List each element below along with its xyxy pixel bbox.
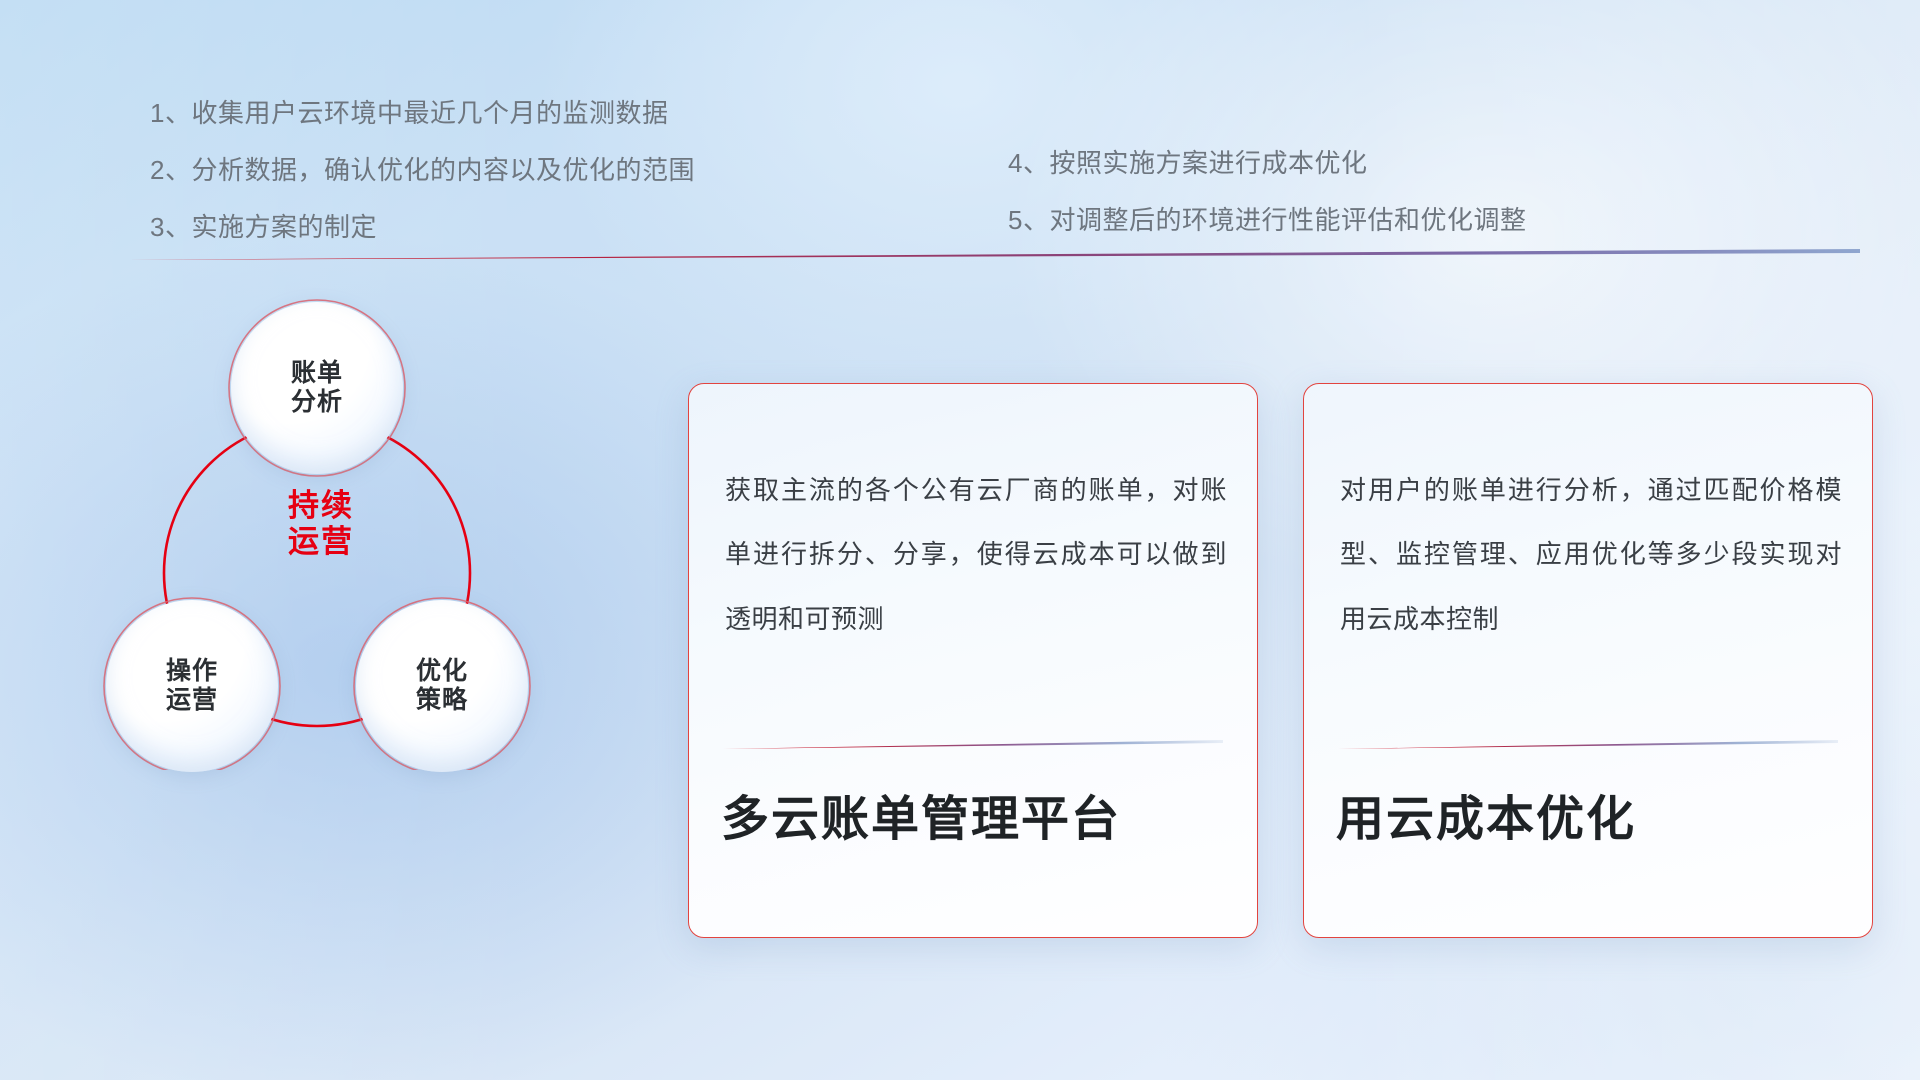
step-item: 2、分析数据，确认优化的内容以及优化的范围 — [150, 157, 695, 183]
venn-circle-optimization-strategy[interactable]: 优化 策略 — [356, 600, 528, 772]
venn-center-label: 持续 运营 — [256, 488, 386, 560]
slide-canvas: 1、收集用户云环境中最近几个月的监测数据 2、分析数据，确认优化的内容以及优化的… — [0, 0, 1920, 1080]
section-divider — [100, 249, 1860, 260]
step-item: 3、实施方案的制定 — [150, 214, 695, 240]
feature-card-multicloud-billing[interactable]: 获取主流的各个公有云厂商的账单，对账单进行拆分、分享，使得云成本可以做到透明和可… — [688, 383, 1258, 938]
card-divider — [723, 740, 1223, 749]
venn-diagram: 账单 分析 操作 运营 优化 策略 持续 运营 — [88, 290, 588, 770]
venn-circle-label: 账单 分析 — [291, 359, 343, 418]
venn-circle-billing-analysis[interactable]: 账单 分析 — [231, 302, 403, 474]
card-divider — [1338, 740, 1838, 749]
venn-circle-label: 操作 运营 — [166, 657, 218, 716]
venn-circle-label: 优化 策略 — [416, 657, 468, 716]
step-item: 5、对调整后的环境进行性能评估和优化调整 — [1008, 207, 1526, 233]
venn-circle-operations[interactable]: 操作 运营 — [106, 600, 278, 772]
step-item: 1、收集用户云环境中最近几个月的监测数据 — [150, 100, 695, 126]
card-body-text: 对用户的账单进行分析，通过匹配价格模型、监控管理、应用优化等多少段实现对用云成本… — [1340, 458, 1842, 651]
card-title: 多云账单管理平台 — [721, 794, 1233, 847]
feature-card-cost-optimization[interactable]: 对用户的账单进行分析，通过匹配价格模型、监控管理、应用优化等多少段实现对用云成本… — [1303, 383, 1873, 938]
steps-column-left: 1、收集用户云环境中最近几个月的监测数据 2、分析数据，确认优化的内容以及优化的… — [150, 100, 695, 271]
steps-column-right: 4、按照实施方案进行成本优化 5、对调整后的环境进行性能评估和优化调整 — [1008, 150, 1526, 264]
card-body-text: 获取主流的各个公有云厂商的账单，对账单进行拆分、分享，使得云成本可以做到透明和可… — [725, 458, 1227, 651]
card-title: 用云成本优化 — [1336, 794, 1848, 847]
step-item: 4、按照实施方案进行成本优化 — [1008, 150, 1526, 176]
